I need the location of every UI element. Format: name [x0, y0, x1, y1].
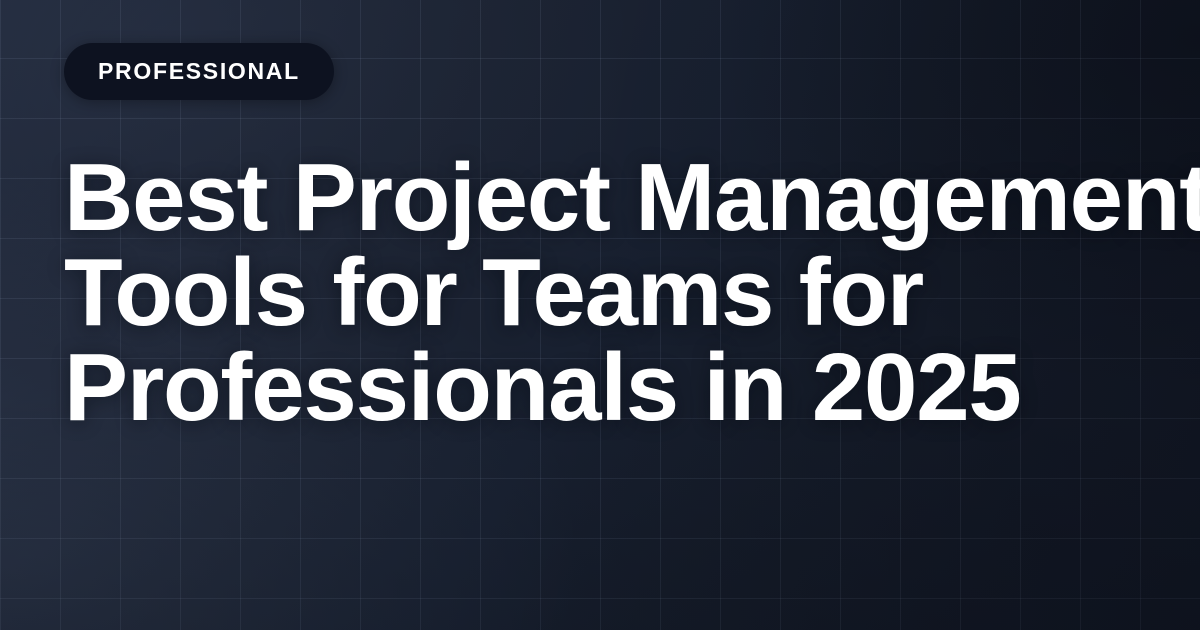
page-title-line-2: Tools for Teams for [64, 245, 1154, 340]
page-title: Best Project Management Tools for Teams … [64, 150, 1154, 435]
hero-content: PROFESSIONAL Best Project Management Too… [64, 43, 1154, 435]
hero-banner: PROFESSIONAL Best Project Management Too… [0, 0, 1200, 630]
category-badge[interactable]: PROFESSIONAL [64, 43, 334, 100]
page-title-line-3: Professionals in 2025 [64, 340, 1154, 435]
category-badge-label: PROFESSIONAL [98, 60, 300, 83]
page-title-line-1: Best Project Management [64, 150, 1154, 245]
